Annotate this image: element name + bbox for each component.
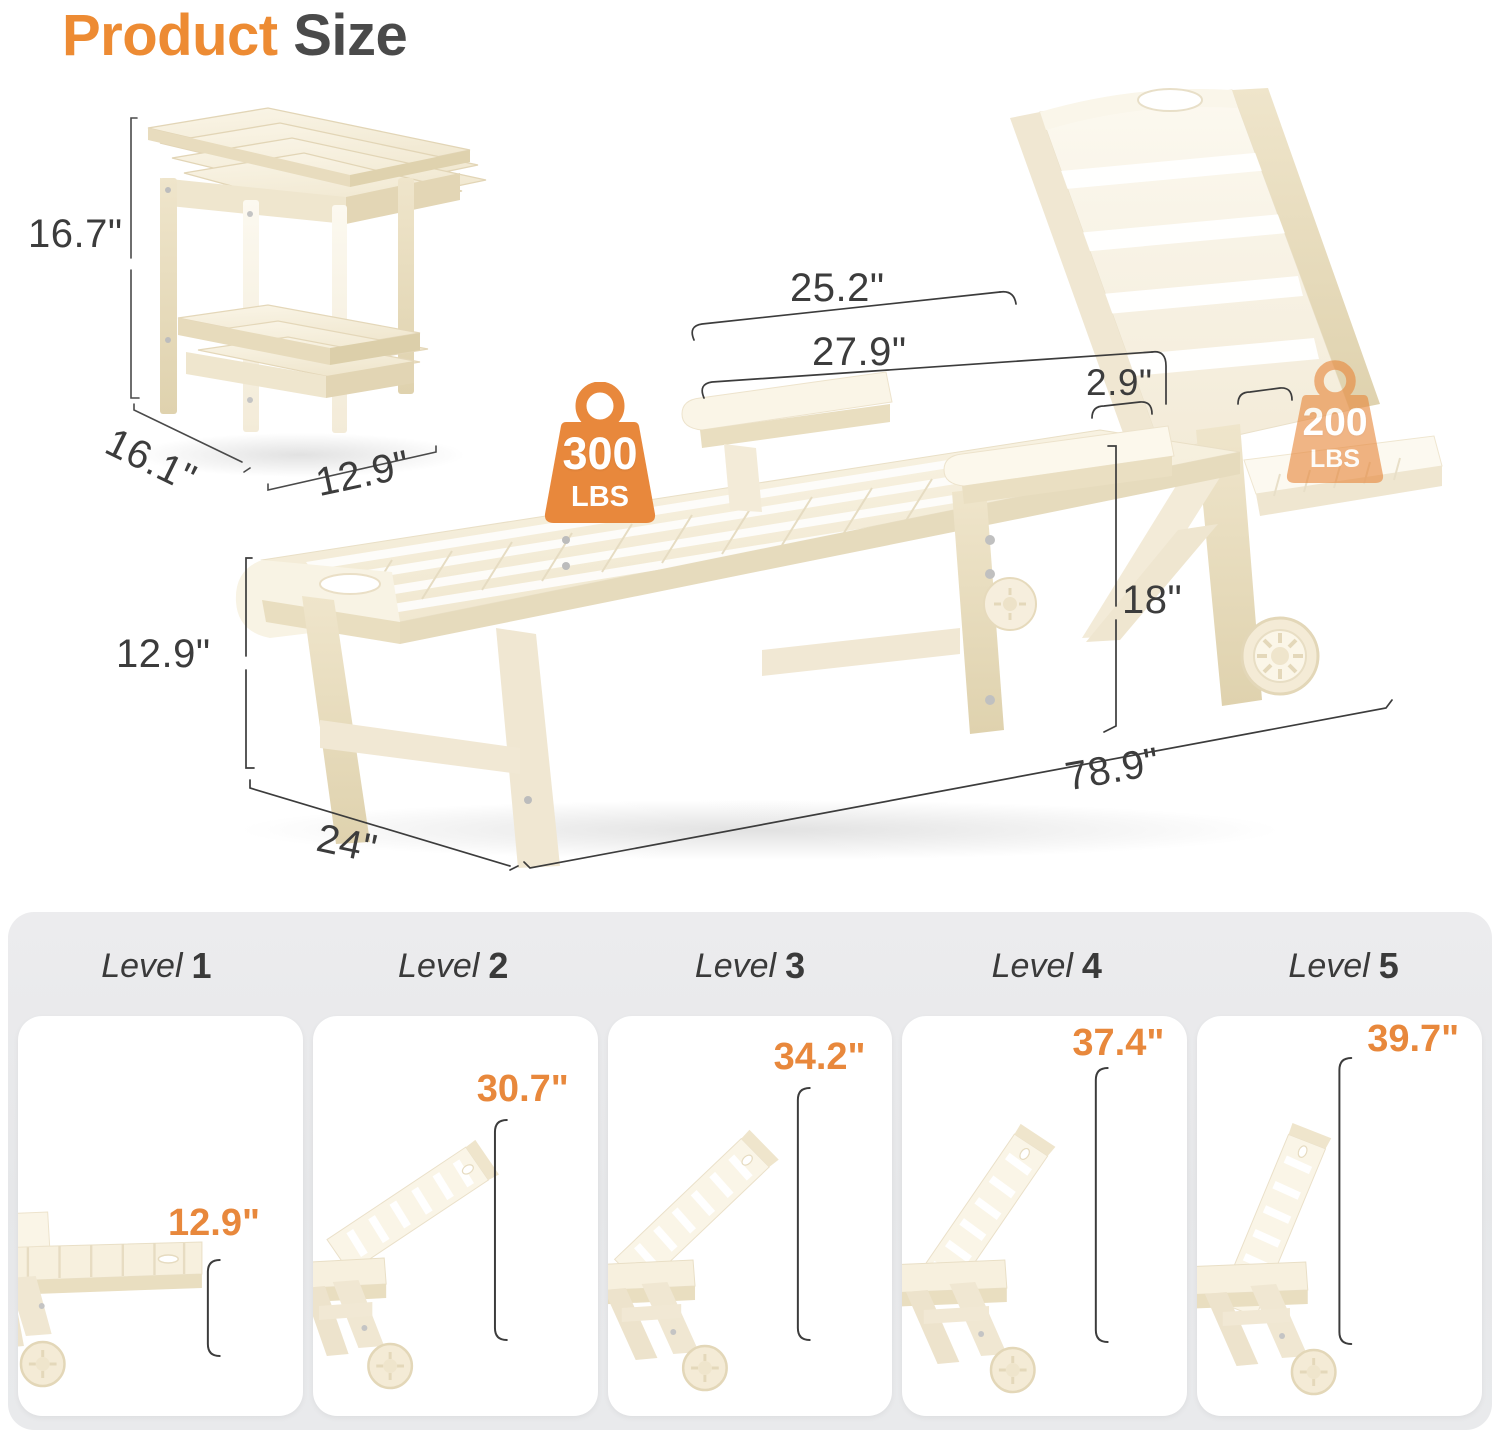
weight-badge-value: 200 xyxy=(1302,403,1367,442)
level-prefix-1: Level xyxy=(101,947,182,986)
chaise-wheel-mid xyxy=(984,578,1036,630)
chaise-wheel-rear xyxy=(1242,618,1318,694)
side-table-illustration xyxy=(135,108,486,477)
recline-levels-panel: Level1 Level2 Level3 Level4 Level5 12.9" xyxy=(8,912,1492,1430)
page-title-accent: Product xyxy=(62,3,278,68)
level-label-3: Level3 xyxy=(602,912,899,1020)
level-number-2: 2 xyxy=(488,945,508,987)
page-title: Product Size xyxy=(62,2,407,69)
page-title-rest: Size xyxy=(293,3,407,68)
weight-badge-unit: LBS xyxy=(571,483,629,512)
level-card-3[interactable]: 34.2" xyxy=(608,1016,893,1416)
level-card-5[interactable]: 39.7" xyxy=(1197,1016,1482,1416)
level-card-2[interactable]: 30.7" xyxy=(313,1016,598,1416)
dim-overall-length: 78.9" xyxy=(1062,740,1163,801)
chaise-level-4-illustration xyxy=(902,1016,1187,1416)
side-table-dimension-lines xyxy=(131,118,436,490)
levels-header-row: Level1 Level2 Level3 Level4 Level5 xyxy=(8,912,1492,1020)
dim-backrest-width-upper: 25.2" xyxy=(790,266,885,311)
weight-badge-unit: LBS xyxy=(1310,447,1360,472)
product-size-infographic: Product Size xyxy=(0,0,1500,1436)
dim-side-table-depth: 16.1" xyxy=(98,420,203,502)
level-label-2: Level2 xyxy=(305,912,602,1020)
level-label-5: Level5 xyxy=(1195,912,1492,1020)
chaise-level-5-illustration xyxy=(1197,1016,1482,1416)
chaise-mid-legs xyxy=(762,488,1004,734)
chaise-dimension-lines xyxy=(246,292,1392,870)
dim-seat-height-rear: 18" xyxy=(1122,578,1182,623)
dim-side-table-width: 12.9" xyxy=(312,442,414,506)
chaise-armrest-near xyxy=(682,372,892,512)
level-card-1[interactable]: 12.9" xyxy=(18,1016,303,1416)
level-measure-2: 30.7" xyxy=(477,1068,569,1111)
level-card-4[interactable]: 37.4" xyxy=(902,1016,1187,1416)
level-prefix-5: Level xyxy=(1288,947,1369,986)
dim-seat-height-front: 12.9" xyxy=(116,632,211,677)
chaise-front-legs xyxy=(302,536,570,868)
dim-side-table-height: 16.7" xyxy=(28,212,123,257)
dim-backrest-width-lower: 27.9" xyxy=(812,330,907,375)
chaise-rear-frame xyxy=(1082,424,1262,706)
level-prefix-3: Level xyxy=(695,947,776,986)
level-measure-5: 39.7" xyxy=(1367,1018,1459,1061)
level-cards-row: 12.9" xyxy=(18,1016,1482,1416)
dim-overall-width: 24" xyxy=(313,816,381,873)
level-number-1: 1 xyxy=(192,945,212,987)
level-label-1: Level1 xyxy=(8,912,305,1020)
level-number-3: 3 xyxy=(785,945,805,987)
weight-badge-200lbs: 200 LBS xyxy=(1283,360,1387,486)
weight-badge-300lbs: 300 LBS xyxy=(540,382,660,527)
dim-slat-gap: 2.9" xyxy=(1086,362,1153,404)
weight-badge-value: 300 xyxy=(562,431,637,476)
chaise-lounge-illustration xyxy=(236,88,1442,868)
level-measure-1: 12.9" xyxy=(168,1202,260,1245)
chaise-level-1-illustration xyxy=(18,1016,303,1416)
level-prefix-4: Level xyxy=(992,947,1073,986)
level-prefix-2: Level xyxy=(398,947,479,986)
level-number-5: 5 xyxy=(1379,945,1399,987)
level-number-4: 4 xyxy=(1082,945,1102,987)
level-label-4: Level4 xyxy=(898,912,1195,1020)
chaise-armrest-far xyxy=(944,426,1174,504)
level-measure-4: 37.4" xyxy=(1072,1022,1164,1065)
level-measure-3: 34.2" xyxy=(774,1036,866,1079)
